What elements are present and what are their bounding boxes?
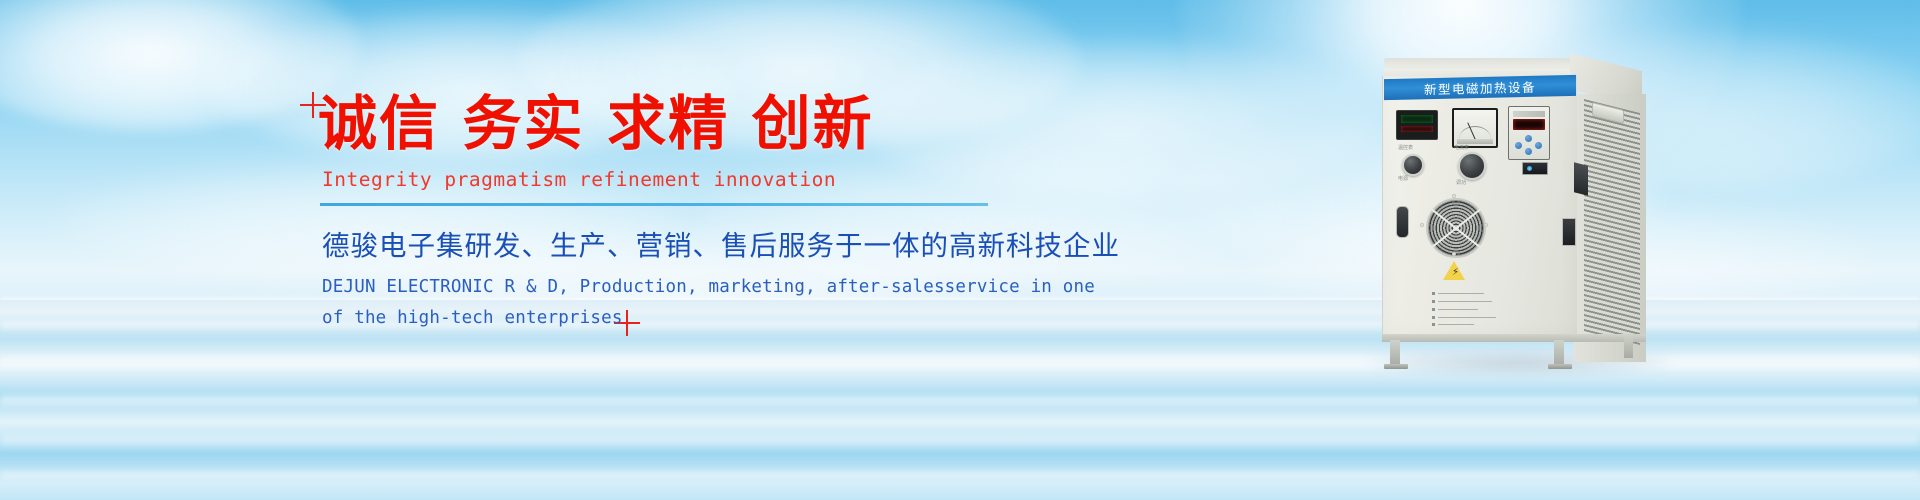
digital-keypad-controller — [1508, 106, 1550, 160]
wave-highlight — [0, 392, 1920, 408]
banner-text-block: 诚信 务实 求精 创新 Integrity pragmatism refinem… — [318, 92, 1018, 333]
subtitle-english-line-1: DEJUN ELECTRONIC R & D, Production, mark… — [322, 272, 1018, 303]
knob-label-power: 电源 — [1398, 175, 1408, 182]
analog-ammeter — [1452, 108, 1498, 148]
promotional-banner: 诚信 务实 求精 创新 Integrity pragmatism refinem… — [0, 0, 1920, 500]
keypad-up-key — [1525, 135, 1532, 142]
fan-screw — [1484, 223, 1488, 227]
fan-screw — [1420, 223, 1424, 227]
subtitle-chinese: 德骏电子集研发、生产、营销、售后服务于一体的高新科技企业 — [322, 223, 1018, 263]
power-knob — [1402, 154, 1424, 176]
cabinet-leg — [1624, 334, 1633, 358]
controller-topbar — [1513, 111, 1545, 117]
cabinet-foot — [1384, 364, 1408, 369]
subtitle-english-line-2: of the high-tech enterprises — [322, 303, 1018, 334]
side-vent-grille — [1584, 99, 1640, 345]
power-switch — [1522, 162, 1548, 175]
headline-chinese: 诚信 务实 求精 创新 — [318, 92, 1018, 157]
headline-english: Integrity pragmatism refinement innovati… — [322, 168, 1018, 191]
knob-label-adjust: 调功 — [1456, 179, 1466, 186]
spec-plate — [1432, 290, 1498, 326]
warning-bolt-icon: ⚡ — [1452, 268, 1459, 278]
product-label-text: 新型电磁加热设备 — [1424, 77, 1536, 99]
subtitle-english: DEJUN ELECTRONIC R & D, Production, mark… — [322, 272, 1018, 333]
divider-rule — [320, 203, 988, 206]
front-vent-slot — [1396, 206, 1409, 238]
product-image-heating-equipment: 新型电磁加热设备 温控表 电流表 电源 调功 — [1374, 58, 1664, 358]
fan-grille-icon — [1426, 198, 1486, 258]
cabinet-leg — [1554, 340, 1564, 366]
knob-label-current: 电流表 — [1454, 144, 1469, 151]
keypad-left-key — [1515, 142, 1522, 149]
keypad-down-key — [1525, 148, 1532, 155]
fan-screw — [1452, 252, 1456, 256]
fan-screw — [1452, 194, 1456, 198]
cabinet-foot — [1548, 364, 1572, 369]
seg-display-green — [1401, 115, 1433, 123]
cloud — [0, 0, 360, 130]
adjust-knob — [1458, 152, 1486, 180]
temperature-controller-display — [1396, 110, 1438, 140]
wave-highlight — [0, 430, 1920, 450]
controller-keypad — [1515, 135, 1543, 155]
product-label-banner: 新型电磁加热设备 — [1384, 75, 1576, 100]
seg-display-red — [1401, 126, 1433, 132]
controller-screen — [1513, 119, 1545, 130]
side-connector-box — [1574, 162, 1588, 195]
wave-highlight — [0, 468, 1920, 482]
keypad-right-key — [1535, 142, 1542, 149]
cabinet-leg — [1390, 340, 1400, 366]
knob-label-temp: 温控表 — [1398, 144, 1413, 151]
cabinet-base — [1382, 334, 1646, 342]
side-port — [1562, 218, 1576, 246]
power-led-icon — [1527, 166, 1532, 171]
